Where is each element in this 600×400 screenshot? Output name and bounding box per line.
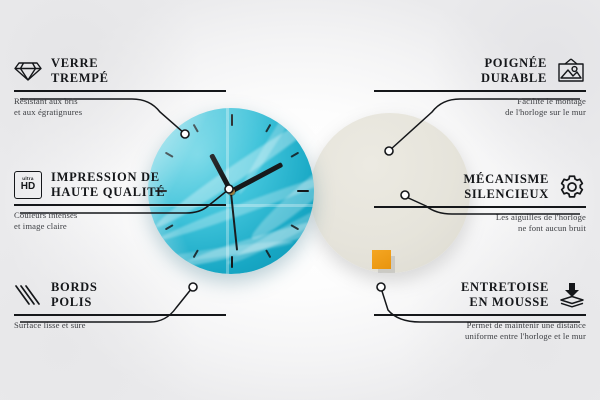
feature-poignee-durable: POIGNÉE DURABLE Facilite le montage de l… [374,56,586,118]
gear-icon [558,174,586,200]
ultra-hd-badge-icon: ultra HD [14,171,42,199]
feature-divider [14,314,226,316]
feature-divider [374,206,586,208]
feature-header: VERRE TREMPÉ [14,56,226,85]
diagonal-stripes-icon [14,283,42,307]
feature-impression-haute-qualite: ultra HD IMPRESSION DE HAUTE QUALITÉ Cou… [14,170,226,232]
feature-header: MÉCANISME SILENCIEUX [374,172,586,201]
feature-title: VERRE TREMPÉ [51,56,109,85]
feature-subtitle: Résistant aux bris et aux égratignures [14,96,226,119]
feature-subtitle: Couleurs intenses et image claire [14,210,226,233]
feature-subtitle: Les aiguilles de l'horloge ne font aucun… [374,212,586,235]
arrow-down-layers-icon [558,282,586,308]
feature-divider [14,204,226,206]
feature-divider [374,90,586,92]
feature-title: IMPRESSION DE HAUTE QUALITÉ [51,170,165,199]
feature-divider [374,314,586,316]
feature-header: POIGNÉE DURABLE [374,56,586,85]
feature-entretoise-en-mousse: ENTRETOISE EN MOUSSE Permet de maintenir… [374,280,586,342]
feature-subtitle: Permet de maintenir une distance uniform… [374,320,586,343]
ultra-hd-bottom-label: HD [21,182,35,192]
feature-title: ENTRETOISE EN MOUSSE [461,280,549,309]
feature-mecanisme-silencieux: MÉCANISME SILENCIEUX Les aiguilles de l'… [374,172,586,234]
feature-verre-trempe: VERRE TREMPÉ Résistant aux bris et aux é… [14,56,226,118]
feature-bords-polis: BORDS POLIS Surface lisse et sûre [14,280,226,331]
feature-title: BORDS POLIS [51,280,98,309]
feature-header: ENTRETOISE EN MOUSSE [374,280,586,309]
infographic-canvas: VERRE TREMPÉ Résistant aux bris et aux é… [0,0,600,400]
feature-subtitle: Facilite le montage de l'horloge sur le … [374,96,586,119]
picture-frame-hanger-icon [556,58,586,84]
diamond-icon [14,59,42,83]
feature-title: POIGNÉE DURABLE [481,56,547,85]
foam-spacer [372,250,391,269]
feature-subtitle: Surface lisse et sûre [14,320,226,331]
feature-title: MÉCANISME SILENCIEUX [464,172,549,201]
feature-header: BORDS POLIS [14,280,226,309]
feature-header: ultra HD IMPRESSION DE HAUTE QUALITÉ [14,170,226,199]
feature-divider [14,90,226,92]
